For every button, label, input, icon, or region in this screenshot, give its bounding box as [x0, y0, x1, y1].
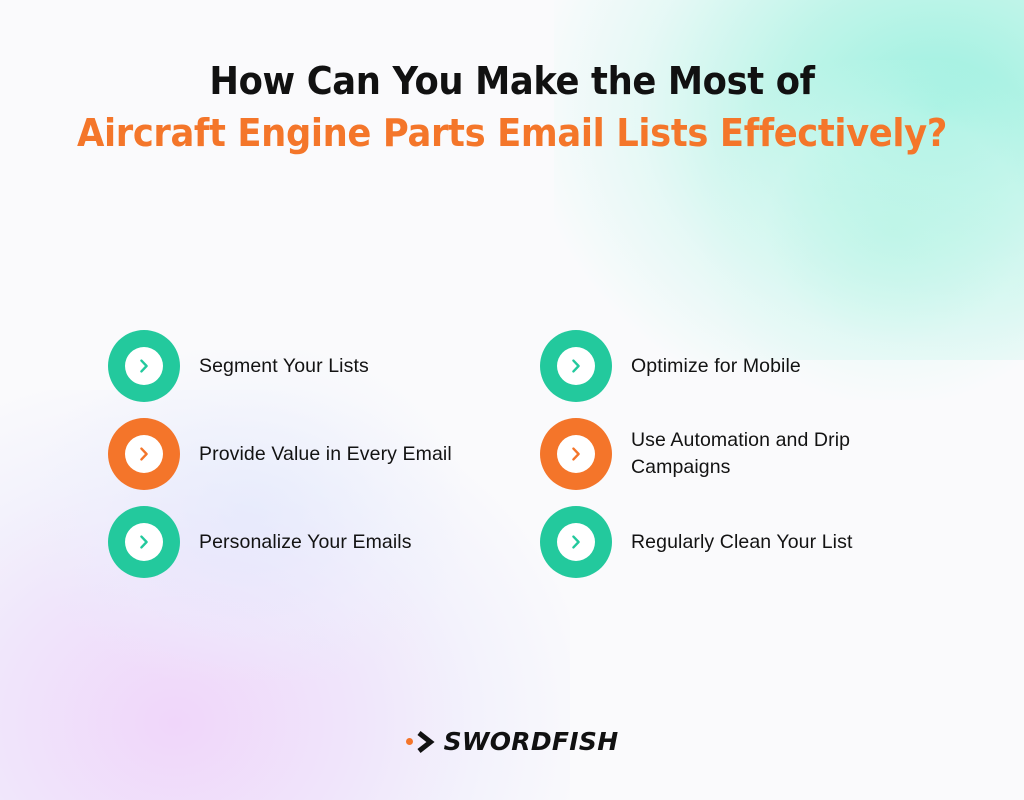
list-item-label: Optimize for Mobile: [631, 353, 801, 380]
chevron-right-circle-icon: [108, 418, 180, 490]
page-title: How Can You Make the Most of Aircraft En…: [0, 55, 1024, 159]
list-item-label: Personalize Your Emails: [199, 529, 412, 556]
background-glow-teal: [554, 0, 1024, 360]
chevron-right-circle-icon: [540, 330, 612, 402]
chevron-icon-inner-circle: [557, 347, 595, 385]
list-item-label: Segment Your Lists: [199, 353, 369, 380]
list-item-label: Use Automation and Drip Campaigns: [631, 427, 941, 481]
chevron-icon-inner-circle: [125, 347, 163, 385]
chevron-icon-inner-circle: [557, 435, 595, 473]
page-title-line-2: Aircraft Engine Parts Email Lists Effect…: [36, 107, 988, 159]
list-item: Provide Value in Every Email: [108, 410, 540, 498]
chevron-right-circle-icon: [540, 506, 612, 578]
logo-dot-icon: [406, 738, 413, 745]
chevron-icon-inner-circle: [125, 523, 163, 561]
chevron-right-circle-icon: [108, 330, 180, 402]
chevron-icon-inner-circle: [125, 435, 163, 473]
chevron-right-circle-icon: [108, 506, 180, 578]
list-item: Personalize Your Emails: [108, 498, 540, 586]
list-item-label: Regularly Clean Your List: [631, 529, 852, 556]
list-item: Regularly Clean Your List: [540, 498, 948, 586]
brand-name: SWORDFISH: [444, 727, 619, 756]
brand-footer: SWORDFISH: [0, 727, 1024, 756]
list-item: Use Automation and Drip Campaigns: [540, 410, 948, 498]
list-item: Optimize for Mobile: [540, 322, 948, 410]
chevron-right-circle-icon: [540, 418, 612, 490]
swordfish-chevron-logo-icon: [406, 731, 435, 753]
list-item: Segment Your Lists: [108, 322, 540, 410]
page-title-line-1: How Can You Make the Most of: [36, 55, 988, 107]
chevron-icon-inner-circle: [557, 523, 595, 561]
infographic-canvas: How Can You Make the Most of Aircraft En…: [0, 0, 1024, 800]
list-item-label: Provide Value in Every Email: [199, 441, 452, 468]
tips-list: Segment Your Lists Optimize for Mobile: [108, 322, 948, 586]
